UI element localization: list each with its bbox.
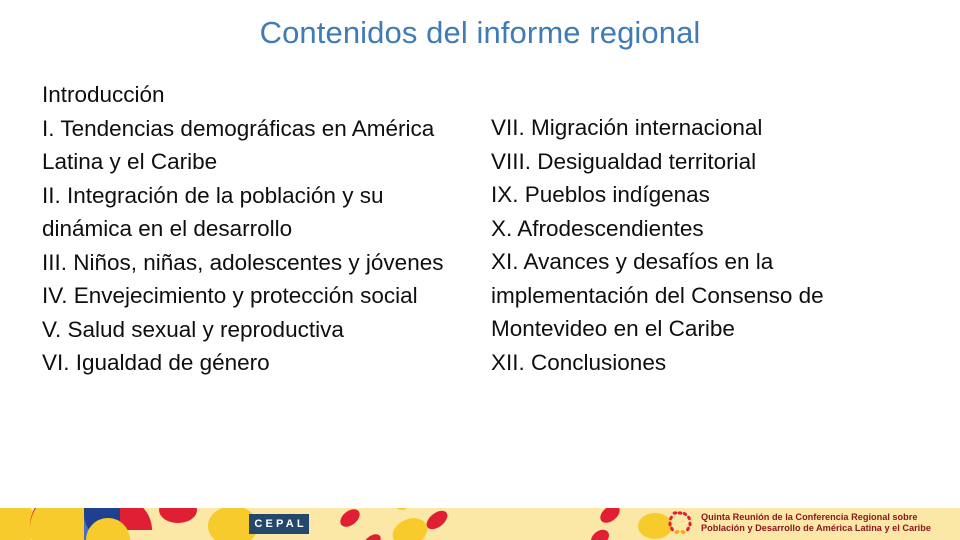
page-title: Contenidos del informe regional (0, 14, 960, 52)
list-item: VII. Migración internacional (491, 111, 931, 145)
list-item: XI. Avances y desafíos en la implementac… (491, 245, 931, 346)
cepal-logo: CEPAL (249, 514, 309, 534)
list-item: X. Afrodescendientes (491, 212, 931, 246)
conference-logo-lockup: Quinta Reunión de la Conferencia Regiona… (666, 510, 931, 536)
list-item: I. Tendencias demográficas en América La… (42, 112, 474, 179)
contents-right-column: VII. Migración internacional VIII. Desig… (491, 111, 931, 379)
list-item: III. Niños, niñas, adolescentes y jóvene… (42, 246, 474, 280)
list-item: V. Salud sexual y reproductiva (42, 313, 474, 347)
conference-emblem-icon (666, 510, 694, 536)
conference-title: Quinta Reunión de la Conferencia Regiona… (701, 512, 931, 535)
list-item: IX. Pueblos indígenas (491, 178, 931, 212)
contents-left-column: Introducción I. Tendencias demográficas … (42, 78, 474, 380)
slide: Contenidos del informe regional Introduc… (0, 0, 960, 540)
list-item: II. Integración de la población y su din… (42, 179, 474, 246)
list-item: Introducción (42, 78, 474, 112)
list-item: VIII. Desigualdad territorial (491, 145, 931, 179)
conference-title-line-2: Población y Desarrollo de América Latina… (701, 523, 931, 534)
list-item: VI. Igualdad de género (42, 346, 474, 380)
conference-title-line-1: Quinta Reunión de la Conferencia Regiona… (701, 512, 931, 523)
list-item: IV. Envejecimiento y protección social (42, 279, 474, 313)
list-item: XII. Conclusiones (491, 346, 931, 380)
